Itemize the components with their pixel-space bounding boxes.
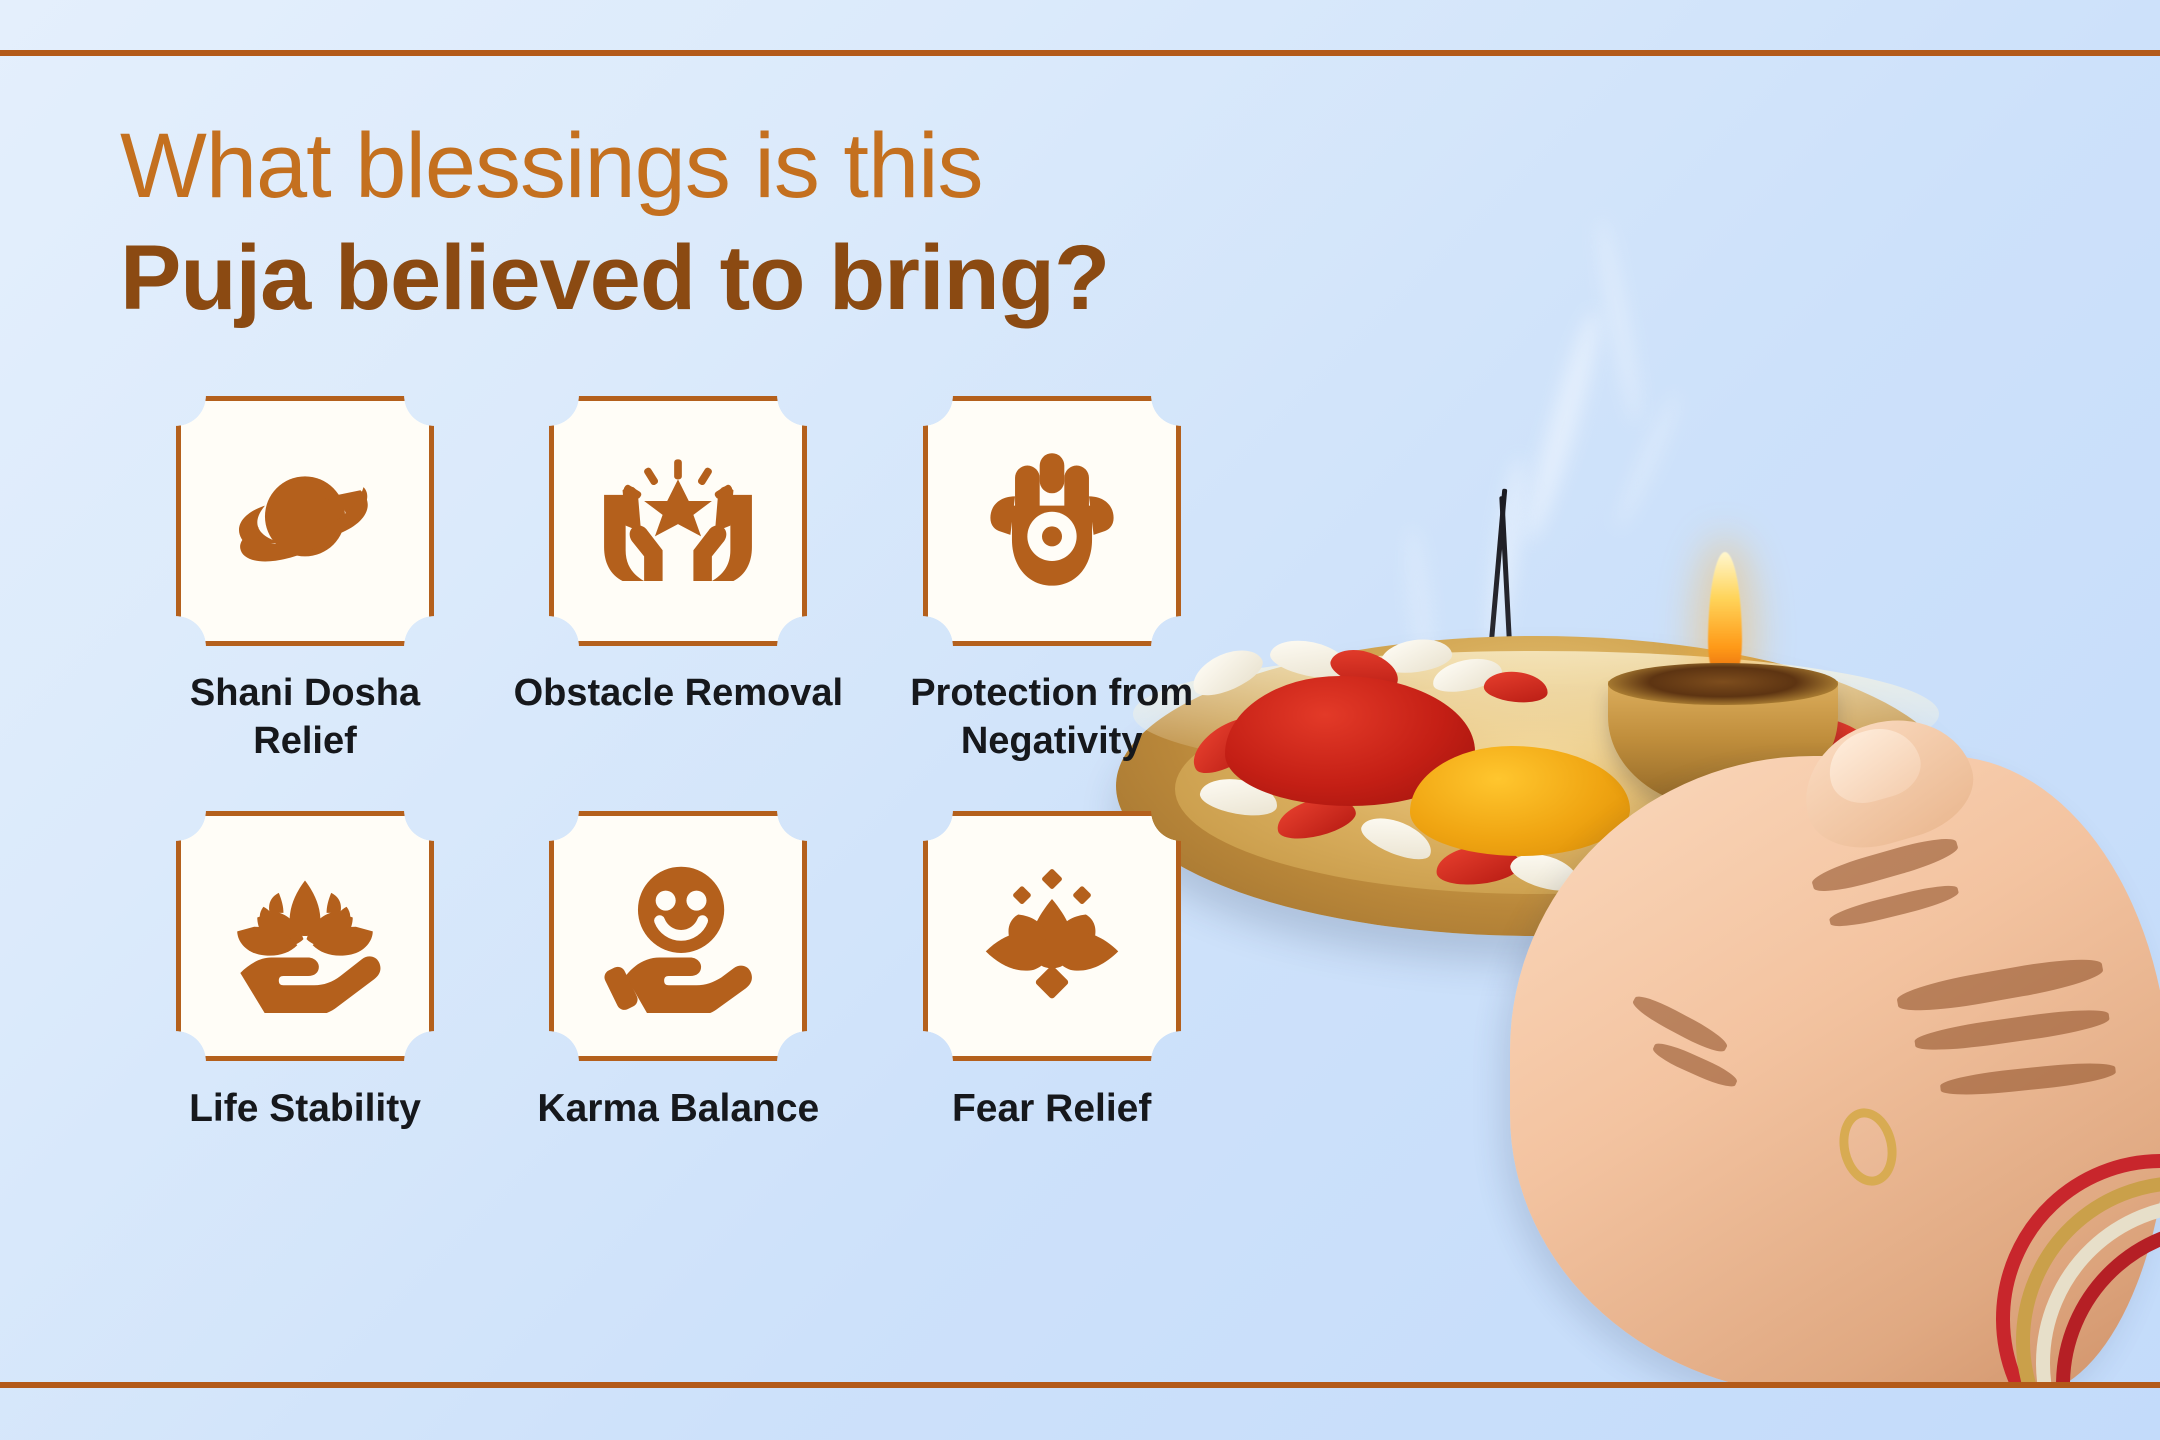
- rose-petal: [1326, 642, 1403, 696]
- benefit-label: Protection from Negativity: [887, 670, 1217, 764]
- benefit-icon-card: [923, 396, 1181, 646]
- benefit-label: Karma Balance: [537, 1085, 819, 1133]
- page-title: What blessings is this Puja believed to …: [120, 118, 1240, 330]
- brass-diya: [1608, 681, 1838, 809]
- thali-inner-surface: [1175, 684, 1897, 894]
- top-divider-rule: [0, 50, 2160, 56]
- benefit-icon-card: [923, 811, 1181, 1061]
- hands-holding-star-icon: [601, 444, 755, 598]
- hamsa-hand-icon: [975, 444, 1129, 598]
- thali-rim-highlight: [1133, 651, 1939, 777]
- benefit-label: Shani Dosha Relief: [140, 670, 470, 764]
- incense-smoke-wisp: [1402, 525, 1439, 686]
- rose-petal: [1273, 791, 1359, 845]
- white-petal: [1357, 809, 1438, 866]
- benefit-label: Fear Relief: [952, 1085, 1151, 1133]
- diya-oil-surface: [1608, 663, 1838, 705]
- headline-line-1: What blessings is this: [120, 118, 1240, 216]
- hand-holding-thali: [1510, 756, 2160, 1382]
- benefit-item-shani-dosha-relief[interactable]: Shani Dosha Relief: [120, 396, 490, 764]
- bangle: [1986, 1148, 2160, 1382]
- content-column: What blessings is this Puja believed to …: [120, 118, 1240, 1133]
- henna-pattern: [1939, 1059, 2116, 1099]
- benefit-icon-card: [176, 396, 434, 646]
- diya-wick: [1721, 666, 1727, 700]
- saturn-planet-icon: [228, 444, 382, 598]
- incense-smoke-wisp: [1610, 389, 1686, 533]
- thumb: [1789, 701, 1985, 863]
- hand-holding-lotus-icon: [228, 859, 382, 1013]
- benefit-item-life-stability[interactable]: Life Stability: [120, 811, 490, 1133]
- brass-thali: [1116, 636, 1956, 936]
- rose-petal: [1582, 826, 1676, 889]
- diya-flame: [1708, 552, 1742, 684]
- haldi-yellow-powder: [1410, 746, 1630, 856]
- white-petal: [1378, 635, 1454, 677]
- benefit-label: Obstacle Removal: [514, 670, 843, 717]
- henna-pattern: [1809, 832, 1960, 898]
- henna-pattern: [1629, 991, 1730, 1057]
- white-petal: [1507, 847, 1583, 897]
- incense-smoke-wisp: [1592, 216, 1646, 426]
- headline-line-2: Puja believed to bring?: [120, 226, 1240, 331]
- benefits-grid: Shani Dosha Relief: [120, 396, 1240, 1133]
- lotus-mandala-icon: [975, 859, 1129, 1013]
- benefit-item-obstacle-removal[interactable]: Obstacle Removal: [493, 396, 863, 764]
- gold-ring: [1833, 1103, 1904, 1191]
- incense-smoke-wisp: [1517, 307, 1608, 545]
- benefit-item-protection-from-negativity[interactable]: Protection from Negativity: [867, 396, 1237, 764]
- henna-pattern: [1895, 952, 2105, 1018]
- white-petal: [1430, 653, 1505, 697]
- bangle: [1966, 1126, 2160, 1382]
- incense-stick: [1499, 496, 1515, 701]
- benefit-icon-card: [549, 811, 807, 1061]
- incense-smoke-wisp: [1481, 455, 1531, 656]
- henna-pattern: [1650, 1038, 1740, 1091]
- benefit-item-fear-relief[interactable]: Fear Relief: [867, 811, 1237, 1133]
- puja-thali-photo: [1080, 56, 2160, 1382]
- henna-pattern: [1913, 1004, 2110, 1055]
- kumkum-red-powder: [1225, 676, 1475, 806]
- white-petal: [1267, 634, 1352, 684]
- thumbnail: [1820, 719, 1928, 812]
- white-petal: [1753, 771, 1832, 826]
- benefit-label: Life Stability: [189, 1085, 421, 1133]
- benefit-item-karma-balance[interactable]: Karma Balance: [493, 811, 863, 1133]
- rose-petal: [1483, 669, 1550, 706]
- benefit-icon-card: [549, 396, 807, 646]
- bangle: [2006, 1170, 2160, 1382]
- benefit-icon-card: [176, 811, 434, 1061]
- bangle: [1946, 1104, 2160, 1382]
- rose-petal: [1434, 842, 1522, 889]
- hand-holding-smiley-icon: [601, 859, 755, 1013]
- bottom-divider-rule: [0, 1382, 2160, 1388]
- incense-stick: [1484, 489, 1507, 699]
- rose-petal: [1674, 806, 1767, 858]
- henna-pattern: [1828, 880, 1961, 931]
- rose-petal: [1794, 707, 1888, 779]
